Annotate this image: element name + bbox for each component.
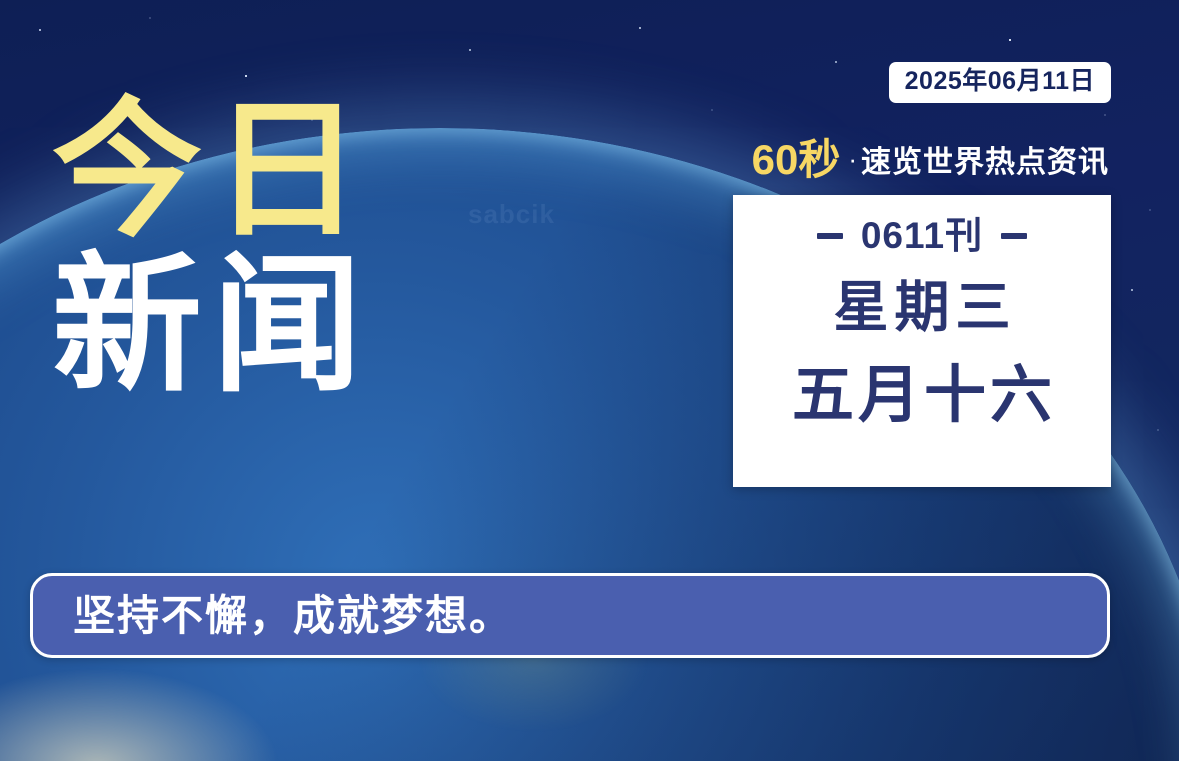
tagline-text: 速览世界热点资讯: [861, 146, 1109, 179]
poster-title: 今日 新闻: [52, 96, 372, 399]
lunar-date-label: 五月十六: [788, 365, 1056, 427]
issue-number: 0611刊: [861, 217, 983, 254]
tagline-seconds: 60秒: [752, 136, 841, 183]
motto-text: 坚持不懈，成就梦想。: [33, 595, 513, 637]
tagline-separator: ·: [848, 144, 857, 174]
issue-dash-left-icon: [817, 233, 843, 239]
title-line-today: 今日: [52, 96, 372, 245]
info-card: 0611刊 星期三 五月十六: [733, 195, 1111, 487]
issue-row: 0611刊: [817, 217, 1027, 254]
issue-dash-right-icon: [1001, 233, 1027, 239]
watermark-text: sabcik: [468, 199, 555, 230]
date-badge: 2025年06月11日: [889, 62, 1111, 103]
tagline: 60秒·速览世界热点资讯: [752, 139, 1109, 181]
motto-bar: 坚持不懈，成就梦想。: [30, 573, 1110, 658]
title-line-news: 新闻: [52, 251, 372, 400]
weekday-label: 星期三: [827, 280, 1016, 335]
poster-canvas: sabcik 今日 新闻 2025年06月11日 60秒·速览世界热点资讯 06…: [0, 0, 1179, 761]
